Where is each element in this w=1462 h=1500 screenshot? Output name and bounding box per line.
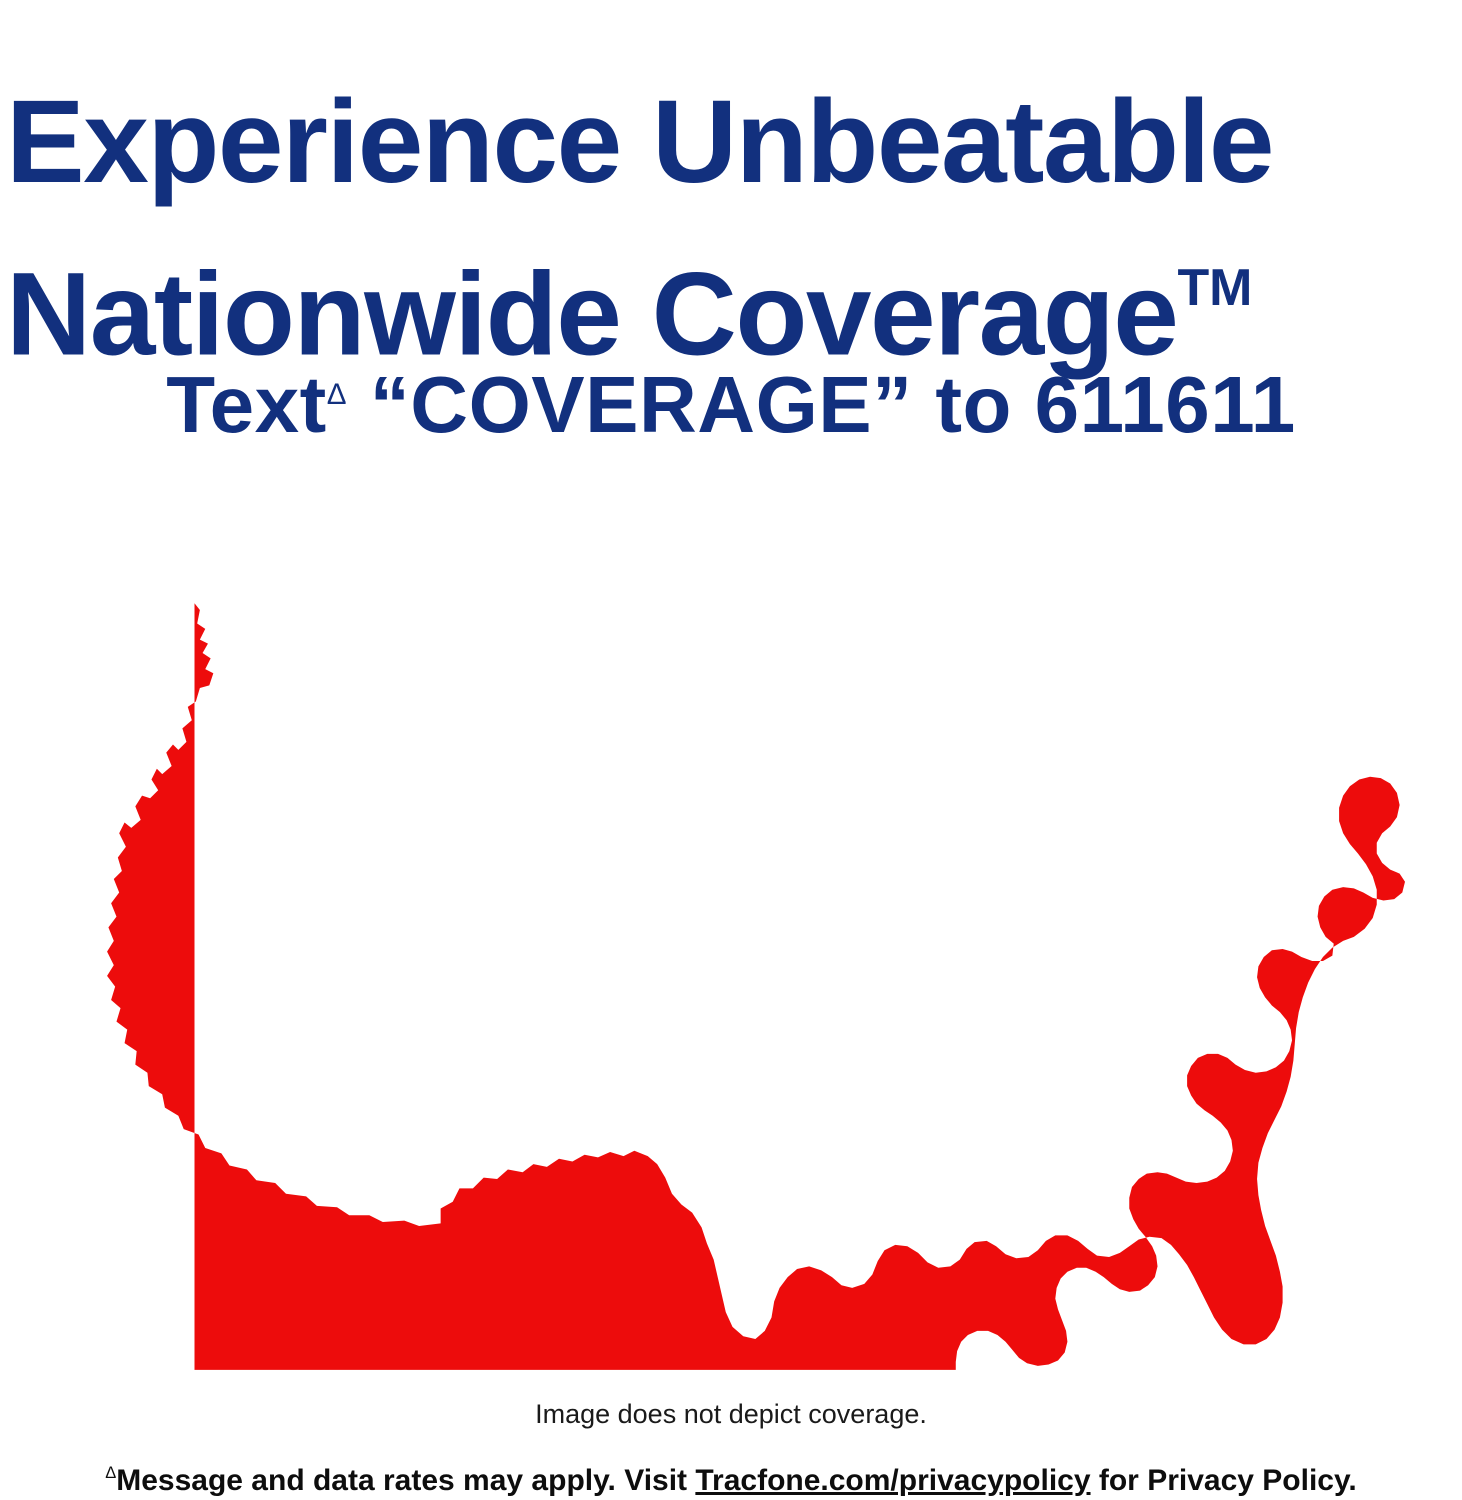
trademark-symbol: TM (1177, 259, 1252, 317)
cta-footnote-marker: Δ (327, 378, 347, 411)
usa-map-icon (60, 540, 1405, 1370)
legal-text-after-link: for Privacy Policy. (1091, 1464, 1357, 1497)
page-title: Experience Unbeatable Nationwide Coverag… (6, 83, 1456, 373)
usa-map-path (107, 603, 1405, 1370)
cta-shortcode: 611611 (1035, 360, 1296, 449)
usa-map-graphic (60, 540, 1405, 1370)
cta-prefix: Text (166, 360, 327, 449)
sms-call-to-action: TextΔ “COVERAGE” to 611611 (0, 352, 1462, 448)
legal-footnote: ΔMessage and data rates may apply. Visit… (0, 1455, 1462, 1499)
legal-footnote-marker: Δ (105, 1464, 116, 1482)
image-disclaimer: Image does not depict coverage. (0, 1398, 1462, 1430)
headline-line-1: Experience Unbeatable (6, 76, 1273, 208)
coverage-ad-page: Experience Unbeatable Nationwide Coverag… (0, 0, 1462, 1500)
privacy-policy-link[interactable]: Tracfone.com/privacypolicy (695, 1464, 1090, 1497)
legal-text-before-link: Message and data rates may apply. Visit (116, 1464, 695, 1497)
cta-keyword: “COVERAGE” (370, 360, 913, 449)
cta-middle: to (935, 360, 1012, 449)
